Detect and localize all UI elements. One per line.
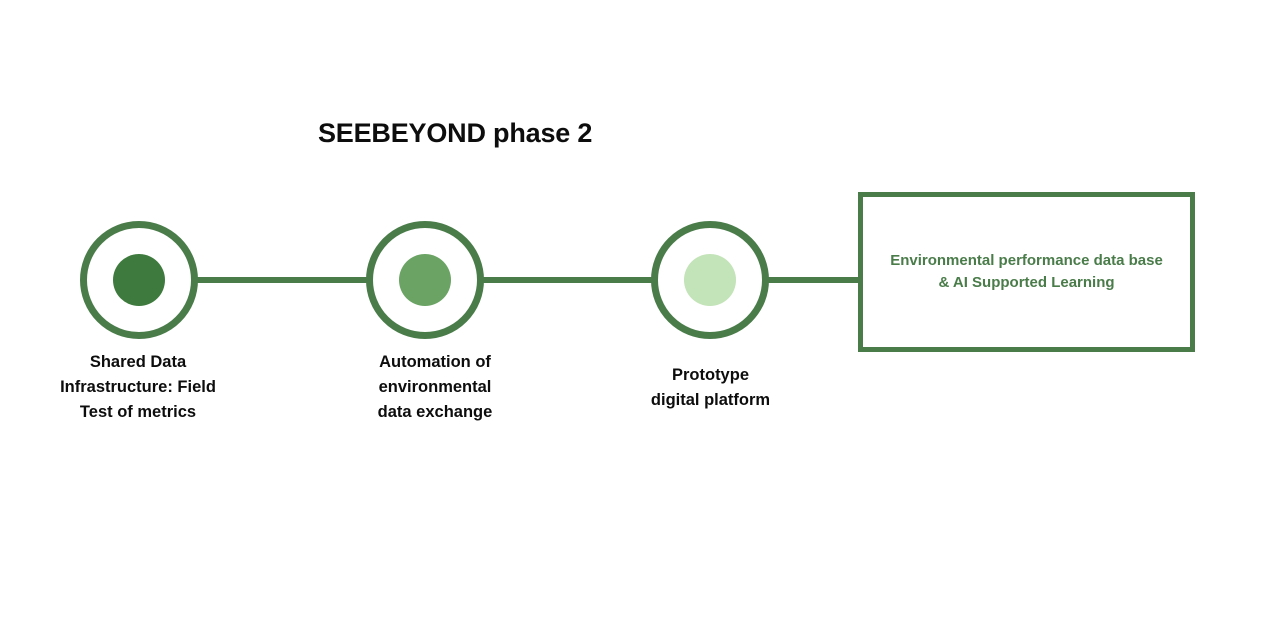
page-title: SEEBEYOND phase 2 bbox=[318, 118, 592, 149]
node-dot-icon bbox=[399, 254, 451, 306]
connector-line-3 bbox=[760, 277, 860, 283]
outcome-box[interactable]: Environmental performance data base & AI… bbox=[858, 192, 1195, 352]
diagram-canvas: SEEBEYOND phase 2 Shared Data Infrastruc… bbox=[0, 0, 1276, 639]
milestone-node-shared-data-infrastructure[interactable] bbox=[80, 221, 198, 339]
node-label-prototype-digital-platform: Prototype digital platform bbox=[618, 363, 803, 413]
milestone-node-prototype-digital-platform[interactable] bbox=[651, 221, 769, 339]
connector-line-1 bbox=[190, 277, 370, 283]
connector-line-2 bbox=[475, 277, 656, 283]
outcome-box-label: Environmental performance data base & AI… bbox=[890, 250, 1163, 294]
node-dot-icon bbox=[684, 254, 736, 306]
milestone-node-automation-data-exchange[interactable] bbox=[366, 221, 484, 339]
node-label-shared-data-infrastructure: Shared Data Infrastructure: Field Test o… bbox=[38, 350, 238, 425]
node-dot-icon bbox=[113, 254, 165, 306]
node-label-automation-data-exchange: Automation of environmental data exchang… bbox=[335, 350, 535, 425]
